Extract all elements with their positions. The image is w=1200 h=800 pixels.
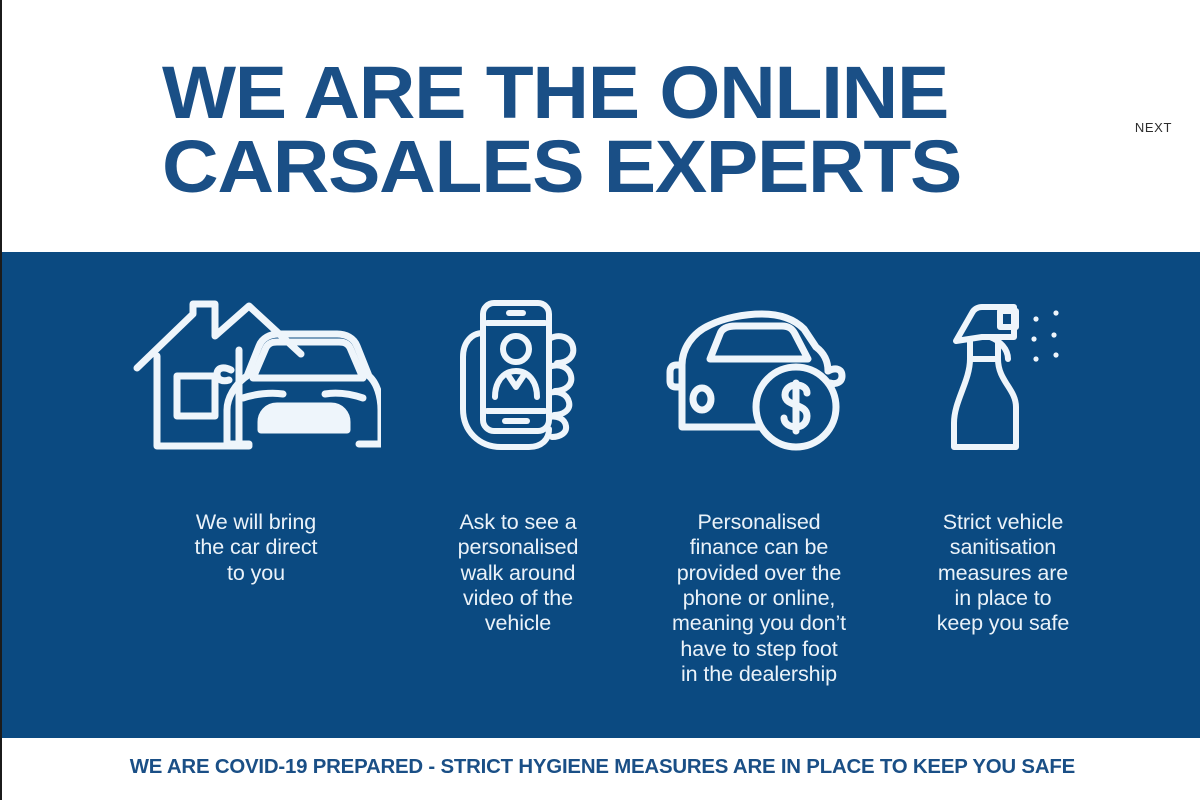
house-with-car-icon: [131, 294, 381, 462]
headline-line-1: WE ARE THE ONLINE: [162, 56, 1116, 130]
page-title: WE ARE THE ONLINE CARSALES EXPERTS: [162, 56, 1116, 204]
feature-panel: We will bring the car direct to you: [2, 252, 1200, 738]
feature-item-2: Ask to see a personalised walk around vi…: [426, 294, 610, 637]
feature-item-1: We will bring the car direct to you: [122, 294, 390, 586]
next-button[interactable]: NEXT: [1135, 120, 1172, 135]
feature-columns: We will bring the car direct to you: [122, 294, 1098, 688]
headline-area: WE ARE THE ONLINE CARSALES EXPERTS NEXT: [2, 0, 1200, 252]
spray-bottle-icon: [938, 294, 1068, 462]
bottom-banner-text: WE ARE COVID-19 PREPARED - STRICT HYGIEN…: [129, 756, 1074, 779]
feature-caption-1: We will bring the car direct to you: [195, 510, 318, 586]
hand-holding-phone-video-icon: [453, 294, 583, 462]
feature-caption-4: Strict vehicle sanitisation measures are…: [937, 510, 1070, 637]
promo-slide: WE ARE THE ONLINE CARSALES EXPERTS NEXT: [0, 0, 1200, 800]
headline-line-2: CARSALES EXPERTS: [162, 130, 1116, 204]
feature-item-4: Strict vehicle sanitisation measures are…: [908, 294, 1098, 637]
feature-caption-2: Ask to see a personalised walk around vi…: [458, 510, 579, 637]
bottom-banner: WE ARE COVID-19 PREPARED - STRICT HYGIEN…: [2, 738, 1200, 800]
car-with-dollar-coin-icon: [666, 294, 852, 462]
feature-item-3: Personalised finance can be provided ove…: [646, 294, 872, 688]
feature-caption-3: Personalised finance can be provided ove…: [672, 510, 846, 688]
